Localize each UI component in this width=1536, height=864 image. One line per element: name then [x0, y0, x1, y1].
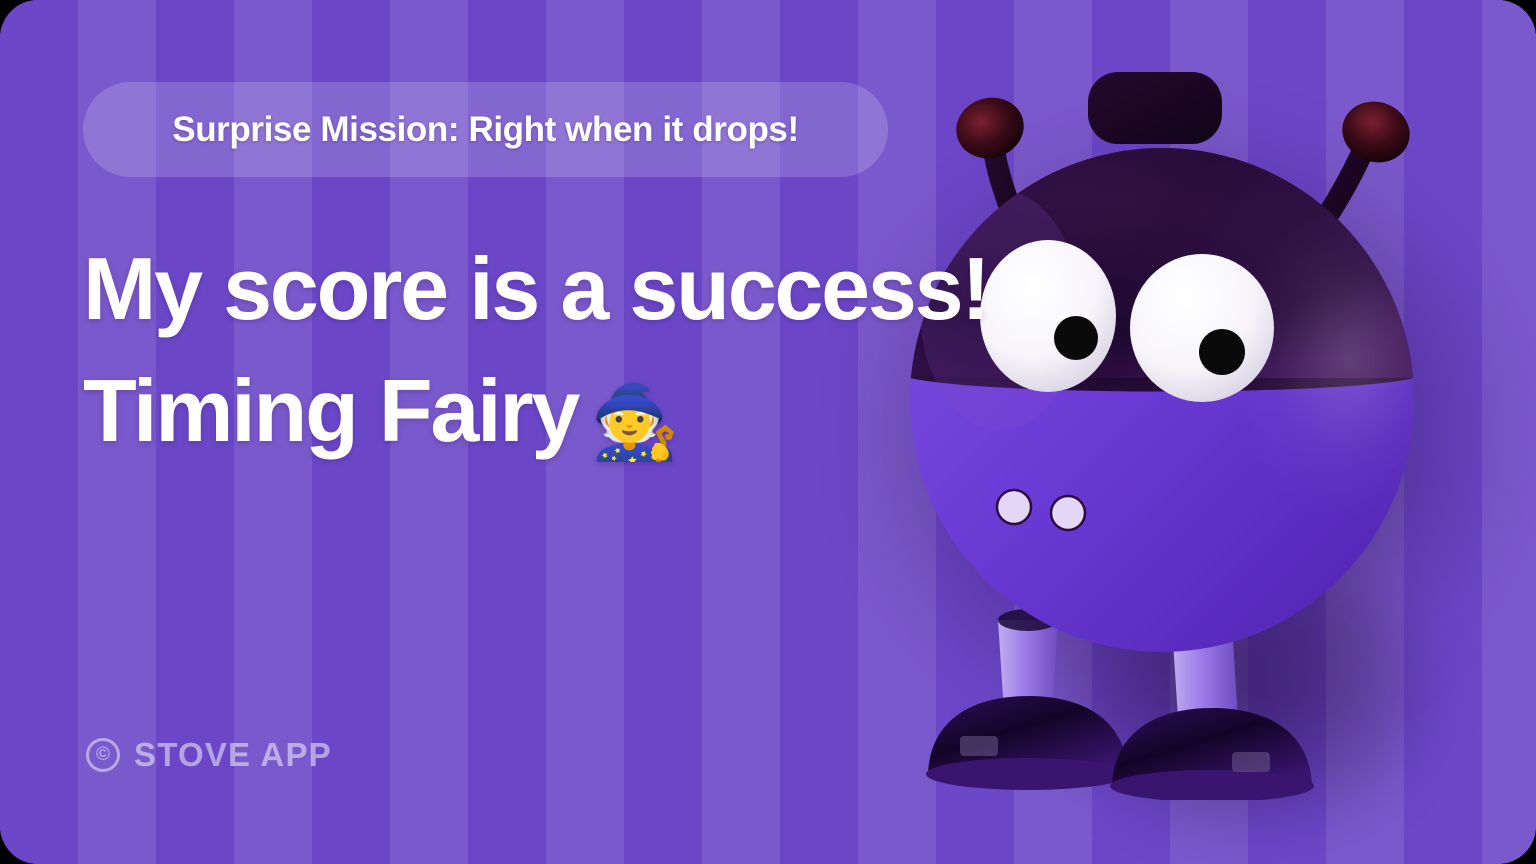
promo-card: Surprise Mission: Right when it drops! M… — [0, 0, 1536, 864]
copyright-icon: © — [86, 738, 120, 772]
mage-wizard-emoji: 🧙 — [590, 383, 680, 463]
headline-line-2-wrap: Timing Fairy🧙 — [83, 350, 913, 472]
text-content: Surprise Mission: Right when it drops! M… — [83, 0, 913, 864]
mission-badge: Surprise Mission: Right when it drops! — [83, 82, 888, 177]
watermark: © STOVE APP — [86, 736, 332, 774]
watermark-label: STOVE APP — [134, 736, 332, 774]
mission-badge-label: Surprise Mission: Right when it drops! — [172, 110, 799, 150]
headline-line-2: Timing Fairy — [83, 361, 578, 460]
headline-block: My score is a success! Timing Fairy🧙 — [83, 228, 913, 472]
headline-line-1: My score is a success! — [83, 228, 913, 350]
